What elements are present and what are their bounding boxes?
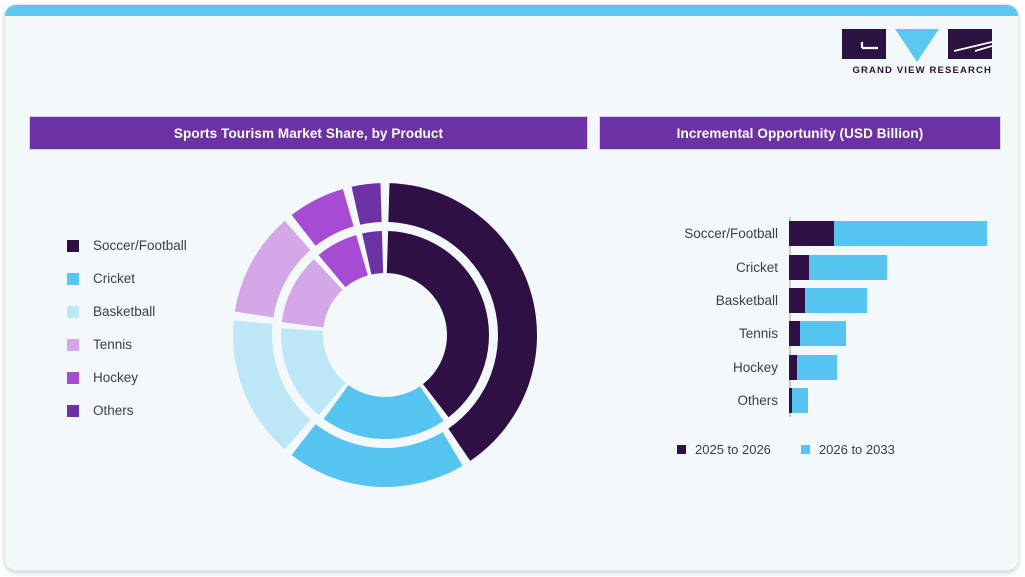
legend-item-label: Soccer/Football: [93, 238, 187, 253]
legend-item-label: Others: [93, 403, 134, 418]
legend-swatch-icon: [67, 372, 79, 384]
legend-swatch-icon: [67, 339, 79, 351]
bar-row: Others: [641, 384, 991, 417]
bar-legend-item[interactable]: 2025 to 2026: [677, 442, 771, 457]
bar-legend: 2025 to 20262026 to 2033: [677, 442, 925, 457]
chart-card: GRAND VIEW RESEARCH Sports Tourism Marke…: [4, 4, 1019, 571]
bar-category-label: Hockey: [641, 360, 789, 375]
bar-segment[interactable]: [789, 288, 805, 313]
bar-segment[interactable]: [789, 255, 809, 280]
bar-track: [789, 284, 991, 317]
legend-swatch-icon: [67, 306, 79, 318]
legend-item-label: Hockey: [93, 370, 138, 385]
bar-legend-swatch-icon: [677, 445, 686, 454]
legend-item-label: Tennis: [93, 337, 132, 352]
logo-marks: [842, 29, 992, 63]
legend-item[interactable]: Hockey: [67, 361, 187, 394]
bar-category-label: Tennis: [641, 326, 789, 341]
bar-category-label: Basketball: [641, 293, 789, 308]
bar-track: [789, 351, 991, 384]
legend-item[interactable]: Others: [67, 394, 187, 427]
right-chart-title: Incremental Opportunity (USD Billion): [599, 116, 1001, 150]
bar-segment[interactable]: [805, 288, 868, 313]
bar-segment[interactable]: [809, 255, 886, 280]
bar-row: Soccer/Football: [641, 217, 991, 250]
donut-svg: [231, 181, 539, 489]
bar-row: Basketball: [641, 284, 991, 317]
top-accent-bar: [5, 5, 1018, 16]
legend-item[interactable]: Basketball: [67, 295, 187, 328]
legend-item[interactable]: Cricket: [67, 262, 187, 295]
legend-item-label: Cricket: [93, 271, 135, 286]
legend-swatch-icon: [67, 240, 79, 252]
donut-legend: Soccer/FootballCricketBasketballTennisHo…: [67, 229, 187, 427]
bar-segment[interactable]: [789, 355, 797, 380]
bar-track: [789, 317, 991, 350]
donut-segment[interactable]: [292, 189, 354, 246]
incremental-opportunity-bar-chart: Soccer/FootballCricketBasketballTennisHo…: [641, 217, 991, 417]
legend-swatch-icon: [67, 405, 79, 417]
bar-segment[interactable]: [797, 355, 837, 380]
bar-segment[interactable]: [789, 321, 800, 346]
bar-row: Tennis: [641, 317, 991, 350]
legend-item[interactable]: Tennis: [67, 328, 187, 361]
bar-legend-swatch-icon: [801, 445, 810, 454]
left-chart-title: Sports Tourism Market Share, by Product: [29, 116, 588, 150]
bar-segment[interactable]: [834, 221, 986, 246]
bar-segment[interactable]: [792, 388, 808, 413]
bar-legend-item[interactable]: 2026 to 2033: [801, 442, 895, 457]
bar-track: [789, 217, 991, 250]
bar-row: Cricket: [641, 250, 991, 283]
bar-legend-label: 2026 to 2033: [819, 442, 895, 457]
legend-item[interactable]: Soccer/Football: [67, 229, 187, 262]
bar-segment[interactable]: [800, 321, 845, 346]
legend-item-label: Basketball: [93, 304, 155, 319]
brand-logo: GRAND VIEW RESEARCH: [842, 29, 992, 83]
market-share-donut-chart: [231, 181, 539, 489]
bar-category-label: Others: [641, 393, 789, 408]
brand-name: GRAND VIEW RESEARCH: [842, 65, 992, 76]
bar-category-label: Soccer/Football: [641, 226, 789, 241]
bar-track: [789, 250, 991, 283]
infographic-canvas: GRAND VIEW RESEARCH Sports Tourism Marke…: [0, 0, 1025, 577]
donut-segment[interactable]: [352, 183, 382, 225]
bar-legend-label: 2025 to 2026: [695, 442, 771, 457]
gvr-logo-icon: [842, 29, 992, 63]
bar-category-label: Cricket: [641, 260, 789, 275]
bar-row: Hockey: [641, 351, 991, 384]
bar-track: [789, 384, 991, 417]
legend-swatch-icon: [67, 273, 79, 285]
donut-segment[interactable]: [324, 385, 444, 439]
bar-segment[interactable]: [789, 221, 834, 246]
